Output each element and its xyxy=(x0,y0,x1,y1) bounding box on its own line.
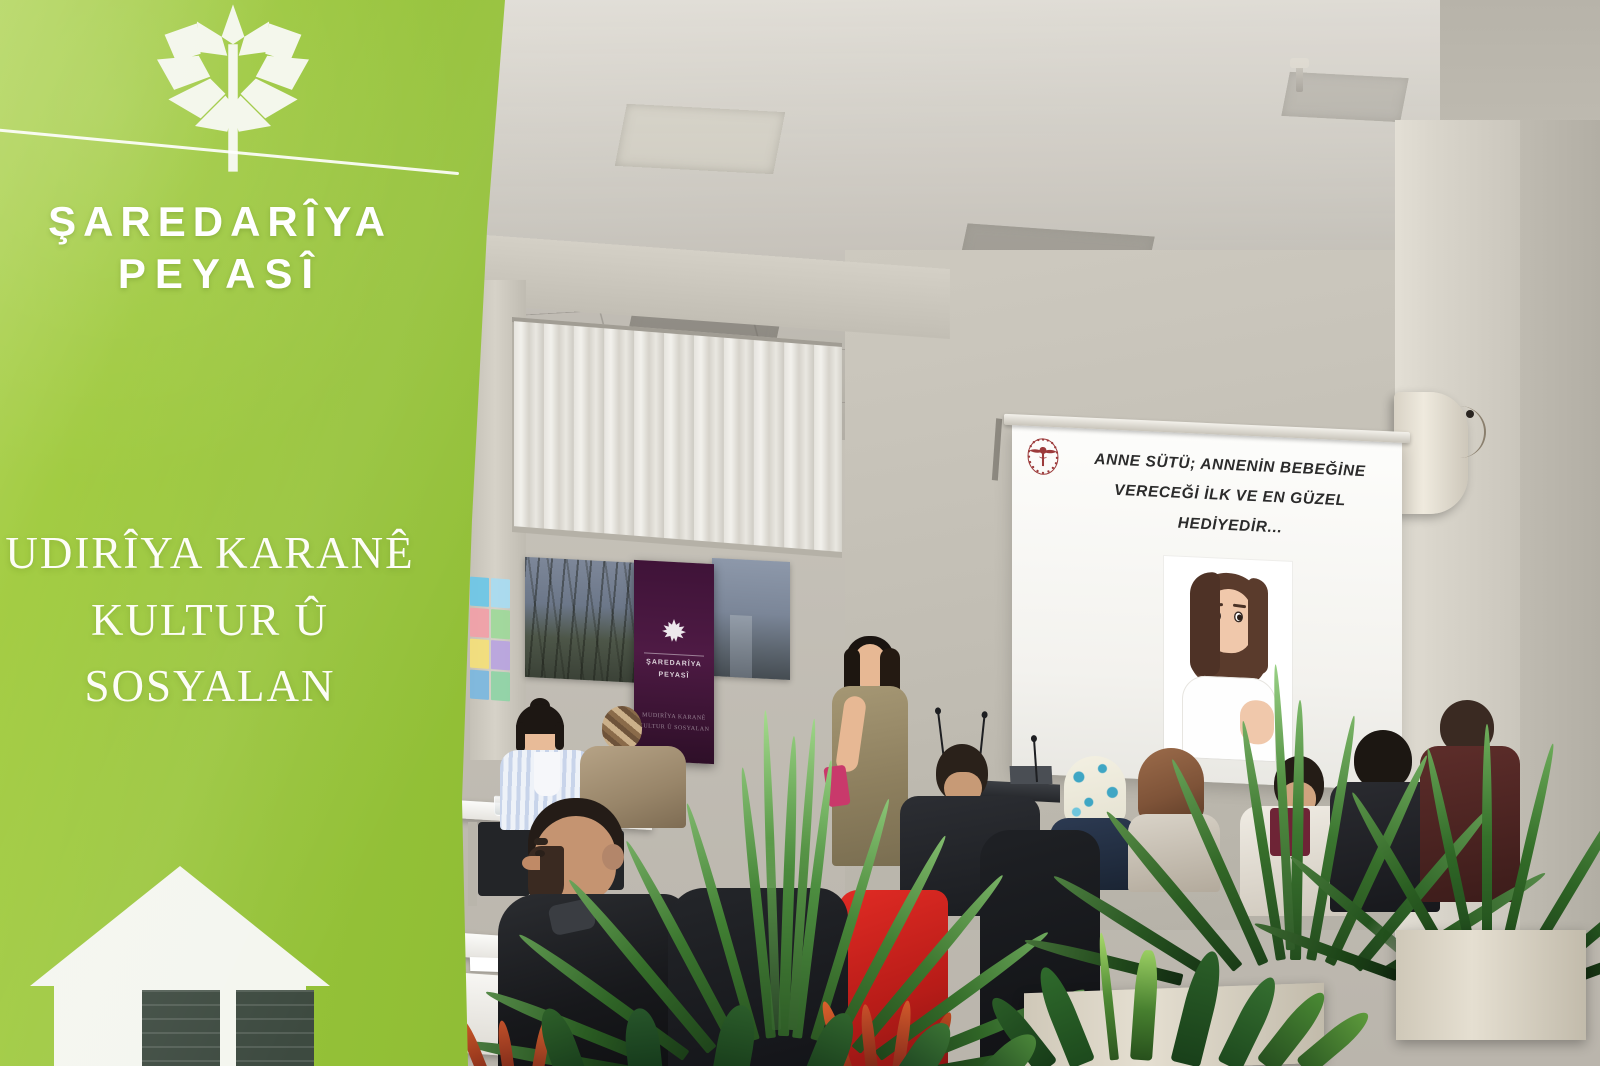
shirt-collar xyxy=(534,752,560,796)
hair-strand xyxy=(516,722,525,752)
flyer-poster-grid xyxy=(470,577,510,702)
planter-box-right xyxy=(1396,930,1586,1040)
poster-item xyxy=(491,671,510,701)
eyebrow xyxy=(534,838,548,845)
poster-item xyxy=(491,640,510,670)
white-sheer-curtain xyxy=(514,321,842,552)
poster-item xyxy=(470,577,489,607)
dracaena-grass-plant-far-right xyxy=(1362,640,1600,960)
roll-up-banner: ŞAREDARÎYA PEYASÎ UDIRÎYA KARANÊ KULTUR … xyxy=(0,0,512,1066)
nose xyxy=(522,856,540,870)
photo-scene: ŞAREDARÎYA PEYASÎ MUDIRÎYA KARANÊ KULTUR… xyxy=(0,0,1600,1066)
ministry-of-health-emblem-icon xyxy=(1026,436,1060,478)
slide-text-block: ANNE SÜTÜ; ANNENİN BEBEĞİNE VERECEĞİ İLK… xyxy=(1060,443,1400,549)
fern-cluster-center xyxy=(1040,880,1340,1060)
window-curtain-frame xyxy=(512,317,842,558)
poster-item xyxy=(470,639,489,669)
poster-item xyxy=(491,609,510,639)
poster-item xyxy=(470,608,489,638)
poster-item xyxy=(491,578,510,608)
poster-item xyxy=(470,670,489,700)
floral-headscarf xyxy=(1064,756,1126,826)
wall-mounted-speaker xyxy=(1394,392,1468,514)
table-leg xyxy=(468,822,477,906)
banner-sheen xyxy=(0,0,512,1066)
foreground-foliage xyxy=(540,1004,1060,1066)
